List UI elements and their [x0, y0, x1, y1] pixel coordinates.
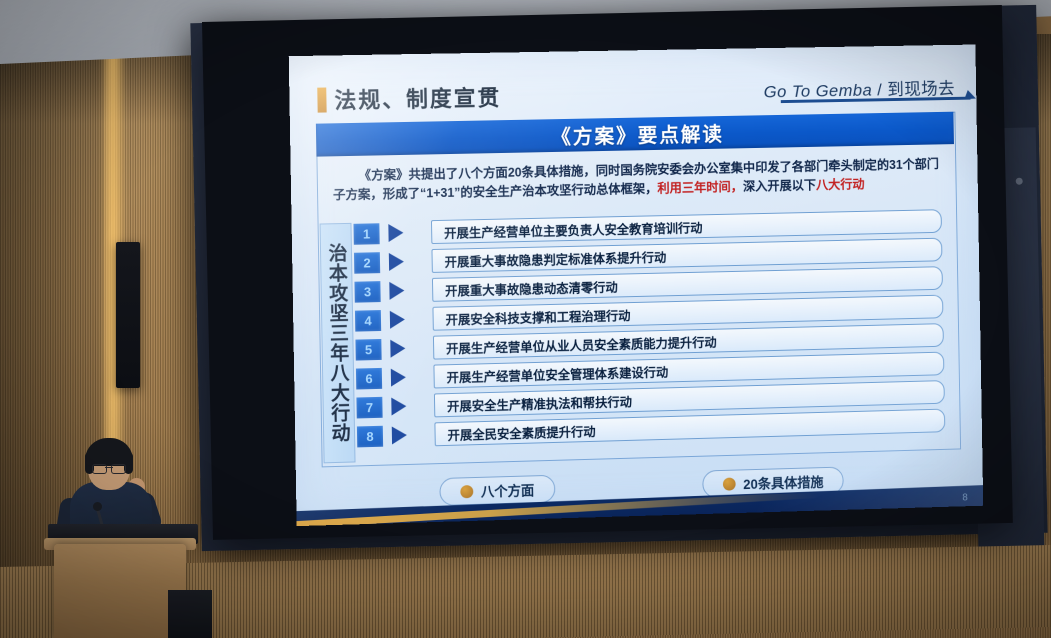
microphone-head-icon [93, 502, 102, 511]
action-label: 开展重大事故隐患判定标准体系提升行动 [444, 246, 666, 270]
action-label: 开展安全科技支撑和工程治理行动 [445, 305, 630, 328]
orange-marker-icon [317, 87, 326, 112]
arrow-icon [964, 90, 977, 103]
gemba-separator: / [872, 80, 887, 99]
play-triangle-icon [389, 252, 426, 271]
pill-label: 八个方面 [481, 479, 535, 500]
play-triangle-icon [388, 223, 425, 242]
action-label: 开展生产经营单位安全管理体系建设行动 [446, 361, 668, 386]
action-number-badge: 8 [357, 425, 383, 447]
floor-equipment-box [168, 590, 212, 638]
action-label: 开展安全生产精准执法和帮扶行动 [447, 391, 632, 415]
paragraph-line-2-highlight: 利用三年时间， [657, 180, 743, 196]
vertical-label-text: 治本攻坚三年八大行动 [322, 243, 352, 443]
action-label: 开展生产经营单位从业人员安全素质能力提升行动 [446, 331, 717, 357]
play-triangle-icon [391, 368, 428, 387]
action-number-badge: 1 [353, 223, 379, 245]
paragraph-line-3: 深入开展以下 [743, 179, 816, 194]
wall-speaker [116, 242, 140, 388]
card-title-text: 《方案》要点解读 [551, 118, 724, 150]
action-number-badge: 6 [356, 367, 382, 389]
pill-label: 20条具体措施 [743, 471, 824, 493]
pill-dot-icon [723, 477, 736, 490]
action-label: 开展全民安全素质提升行动 [447, 420, 595, 443]
presenter-glasses-icon [92, 464, 126, 472]
conference-room-photo: 法规、制度宣贯 Go To Gemba / 到现场去 《方案》要点解读 《方案》… [0, 0, 1051, 638]
play-triangle-icon [390, 339, 427, 358]
play-triangle-icon [390, 310, 427, 329]
projection-screen-bezel: 法规、制度宣贯 Go To Gemba / 到现场去 《方案》要点解读 《方案》… [202, 5, 1013, 540]
paragraph-line-3-highlight: 八大行动 [816, 178, 865, 193]
panel-fixture [1016, 178, 1023, 185]
action-number-badge: 7 [356, 396, 382, 418]
play-triangle-icon [391, 397, 428, 416]
company-slogan: 研出必行 · 精益求精 · 乘风破浪 · 及时服务 · 监督管控 [511, 518, 830, 526]
action-number-badge: 4 [355, 310, 381, 332]
action-number-badge: 2 [354, 252, 380, 274]
action-label: 开展重大事故隐患动态清零行动 [445, 276, 618, 299]
action-list: 1开展生产经营单位主要负责人安全教育培训行动2开展重大事故隐患判定标准体系提升行… [353, 208, 945, 452]
vertical-campaign-label: 治本攻坚三年八大行动 [320, 223, 356, 463]
presentation-slide: 法规、制度宣贯 Go To Gemba / 到现场去 《方案》要点解读 《方案》… [289, 45, 983, 527]
action-label: 开展生产经营单位主要负责人安全教育培训行动 [444, 217, 703, 241]
podium [54, 544, 186, 638]
play-triangle-icon [389, 281, 426, 300]
play-triangle-icon [392, 426, 429, 445]
pill-dot-icon [460, 485, 473, 498]
action-number-badge: 5 [355, 338, 381, 360]
action-number-badge: 3 [354, 281, 380, 303]
slide-section-title: 法规、制度宣贯 [334, 80, 501, 115]
slide-page-number: 8 [962, 492, 968, 503]
